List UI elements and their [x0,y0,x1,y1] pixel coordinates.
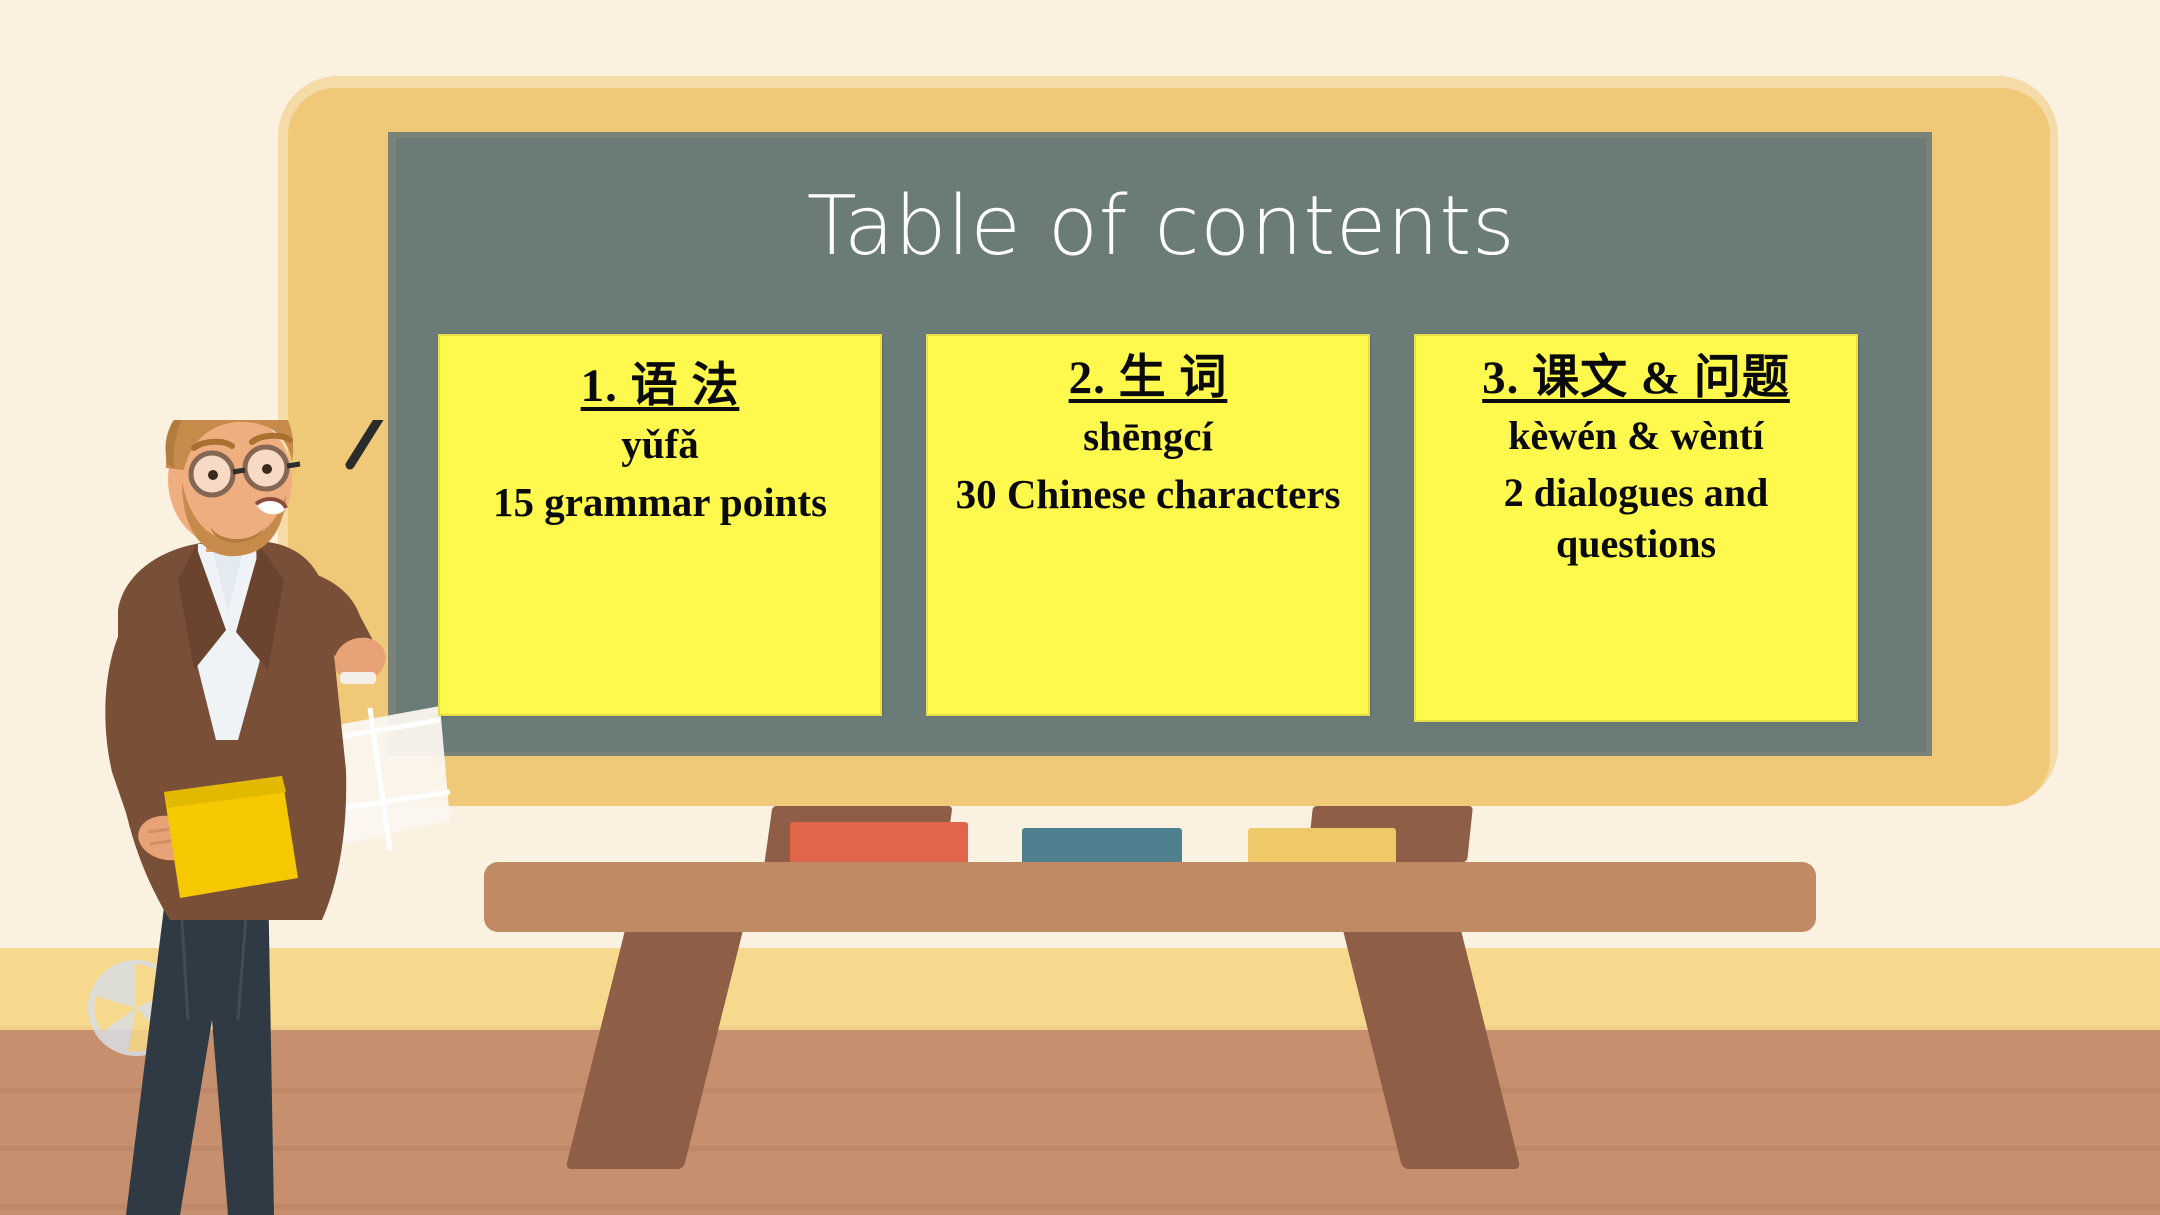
card-pinyin: yǔfǎ [452,418,868,470]
contents-card-grammar[interactable]: 1. 语 法 yǔfǎ 15 grammar points [440,336,880,714]
card-description: 15 grammar points [452,476,868,528]
teacher-character [60,420,440,1215]
classroom-desk [484,862,1816,932]
card-heading: 1. 语 法 [452,360,868,414]
contents-card-vocabulary[interactable]: 2. 生 词 shēngcí 30 Chinese characters [928,336,1368,714]
contents-card-list: 1. 语 法 yǔfǎ 15 grammar points 2. 生 词 shē… [440,336,1880,718]
contents-card-text-and-questions[interactable]: 3. 课文 & 问题 kèwén & wèntí 2 dialogues and… [1416,336,1856,720]
card-heading: 3. 课文 & 问题 [1428,352,1844,406]
card-description: 30 Chinese characters [940,468,1356,520]
card-description: 2 dialogues and questions [1428,467,1844,569]
card-pinyin: shēngcí [940,410,1356,462]
slide-canvas: Table of contents 1. 语 法 yǔfǎ 15 grammar… [0,0,2160,1215]
page-title: Table of contents [396,186,1926,268]
card-pinyin: kèwén & wèntí [1428,410,1844,461]
card-heading: 2. 生 词 [940,352,1356,406]
